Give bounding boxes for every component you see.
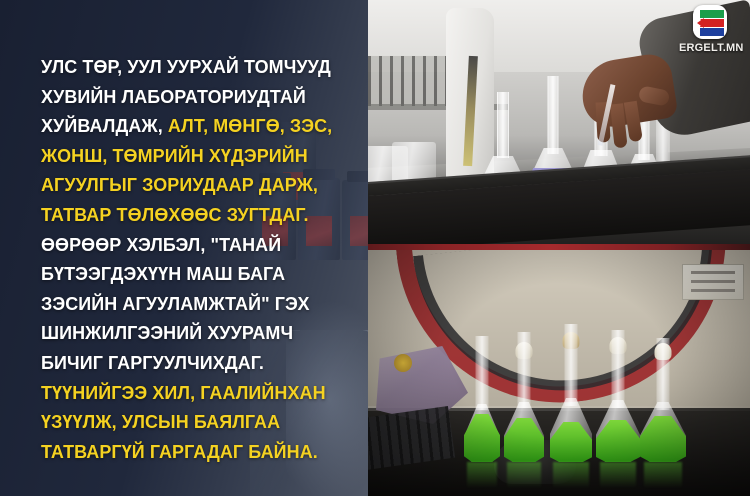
headline-line-8: БҮТЭЭГДЭХҮҮН МАШ БАГА [41,259,342,289]
headline-line-11: БИЧИГ ГАРГУУЛЧИХДАГ. [41,348,342,378]
arrow-left-icon [697,18,704,28]
headline-line-5: АГУУЛГЫГ ЗОРИУДААР ДАРЖ, [41,170,342,200]
photo-vignette [368,250,750,496]
photo-column [368,0,750,496]
headline-line-9: ЗЭСИЙН АГУУЛАМЖТАЙ" ГЭХ [41,289,342,319]
logo-watermark[interactable]: ERGELT.MN [679,5,741,63]
poster-root: УЛС ТӨР, УУЛ УУРХАЙ ТОМЧУУД ХУВИЙН ЛАБОР… [0,0,750,496]
headline-line-10: ШИНЖИЛГЭЭНИЙ ХУУРАМЧ [41,318,342,348]
headline-line-14: ТАТВАРГҮЙ ГАРГАДАГ БАЙНА. [41,437,342,467]
headline-line-6: ТАТВАР ТӨЛӨХӨӨС ЗУГТДАГ. [41,200,342,230]
headline-line-1: УЛС ТӨР, УУЛ УУРХАЙ ТОМЧУУД [41,52,342,82]
headline-line-4: ЖОНШ, ТӨМРИЙН ХҮДЭРИЙН [41,141,342,171]
headline-block: УЛС ТӨР, УУЛ УУРХАЙ ТОМЧУУД ХУВИЙН ЛАБОР… [41,52,342,466]
headline-line-3: ХУЙВАЛДАЖ, АЛТ, МӨНГӨ, ЗЭС, [41,111,342,141]
photo-green-flasks [368,250,750,496]
logo-text: ERGELT.MN [679,42,741,54]
headline-line-2: ХУВИЙН ЛАБОРАТОРИУДТАЙ [41,82,342,112]
ergelt-logo-icon [693,5,727,39]
headline-line-12: ТҮҮНИЙГЭЭ ХИЛ, ГААЛИЙНХАН [41,378,342,408]
headline-line-13: ҮЗҮҮЛЖ, УЛСЫН БАЯЛГАА [41,407,342,437]
headline-line-7: ӨӨРӨӨР ХЭЛБЭЛ, "ТАНАЙ [41,230,342,260]
